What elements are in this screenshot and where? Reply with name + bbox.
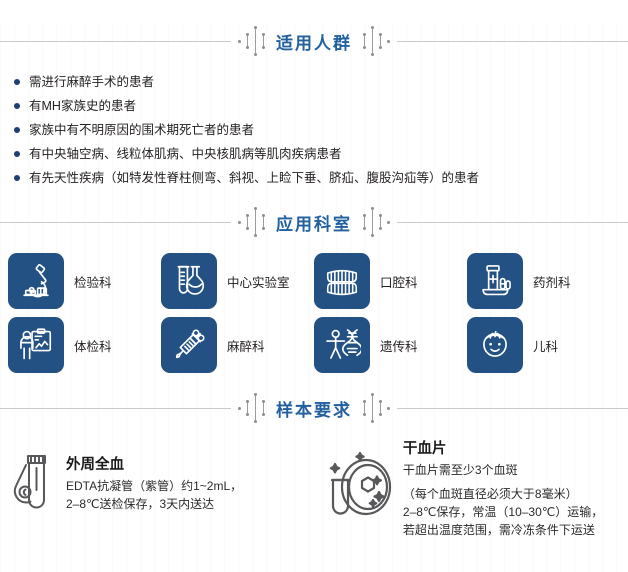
list-item: 需进行麻醉手术的患者 [14,72,618,93]
section-title-population: 适用人群 [272,29,356,54]
medicine-bottle-icon [476,262,514,300]
divider-rule-left [0,408,231,409]
ornament-bar-short [379,33,382,49]
department-label: 儿科 [533,336,558,355]
ornament-dot [238,221,241,224]
sample-text: 干血片 干血片需至少3个血斑 （每个血斑直径必须大于8毫米） 2–8℃保存，常温… [403,437,603,539]
ornament-bar-short [363,214,366,230]
department-label: 药剂科 [533,272,571,291]
ornament-dot [238,407,241,410]
department-item-anesthesia[interactable]: 麻醉科 [161,317,314,373]
ornament-bar-short [262,214,265,230]
department-item-lab[interactable]: 检验科 [8,253,161,309]
section-header-samples: 样本要求 [0,391,628,425]
list-item-label: 有MH家族史的患者 [29,96,136,117]
sample-icon-wrap [12,453,56,539]
ornament-bar-short [363,400,366,416]
ornament-bar-short [262,33,265,49]
sample-line: 2–8℃保存，常温（10–30℃）运输， [403,503,603,521]
sample-item-dried-blood-spot: 干血片 干血片需至少3个血斑 （每个血斑直径必须大于8毫米） 2–8℃保存，常温… [327,435,622,539]
list-item: 家族中有不明原因的围术期死亡者的患者 [14,120,618,141]
sample-icon-wrap [327,437,393,539]
department-label: 中心实验室 [227,272,290,291]
list-item-label: 需进行麻醉手术的患者 [29,72,154,93]
department-label: 遗传科 [380,336,418,355]
ornament-bar-short [246,33,249,49]
ornament-dot [387,40,390,43]
ornament-right [363,391,390,425]
department-tile [161,253,217,309]
ornament-bar-tall [254,393,257,423]
section-header-population: 适用人群 [0,24,628,58]
sample-line: 若超出温度范围，需冷冻条件下运送 [403,521,603,539]
population-list: 需进行麻醉手术的患者 有MH家族史的患者 家族中有不明原因的围术期死亡者的患者 … [0,72,628,189]
department-label: 体检科 [74,336,112,355]
department-tile [161,317,217,373]
department-grid: 检验科 中心实验室 [0,239,628,373]
bullet-dot-icon [14,175,20,181]
list-item-label: 有中央轴空病、线粒体肌病、中央核肌病等肌肉疾病患者 [29,144,342,165]
ornament-left [238,24,265,58]
poster-page: 适用人群 需进行麻醉手术的患者 有MH家族史的患者 家族中有不明原因的围术期死亡… [0,24,628,572]
department-item-pediatrics[interactable]: 儿科 [467,317,620,373]
ornament-bar-short [363,33,366,49]
department-item-checkup[interactable]: 体检科 [8,317,161,373]
sample-text: 外周全血 EDTA抗凝管（紫管）约1~2mL， 2–8℃送检保存，3天内送达 [66,453,242,539]
divider-rule-left [0,41,231,42]
department-item-central-lab[interactable]: 中心实验室 [161,253,314,309]
bullet-dot-icon [14,103,20,109]
sample-requirements: 外周全血 EDTA抗凝管（紫管）约1~2mL， 2–8℃送检保存，3天内送达 [0,425,628,539]
ornament-bar-tall [371,26,374,56]
sample-item-whole-blood: 外周全血 EDTA抗凝管（紫管）约1~2mL， 2–8℃送检保存，3天内送达 [6,435,327,539]
test-tube-flask-icon [170,262,208,300]
list-item: 有中央轴空病、线粒体肌病、中央核肌病等肌肉疾病患者 [14,144,618,165]
ornament-dot [387,407,390,410]
ornament-bar-tall [371,393,374,423]
list-item-label: 家族中有不明原因的围术期死亡者的患者 [29,120,254,141]
department-tile [314,253,370,309]
ornament-bar-short [262,400,265,416]
bullet-dot-icon [14,151,20,157]
department-tile [467,317,523,373]
ornament-right [363,205,390,239]
microscope-icon [17,262,55,300]
checkup-clipboard-icon [17,326,55,364]
ornament-dot [387,221,390,224]
list-item: 有先天性疾病（如特发性脊柱侧弯、斜视、上睑下垂、脐疝、腹股沟疝等）的患者 [14,168,618,189]
sample-line: （每个血斑直径必须大于8毫米） [403,485,603,503]
section-title-departments: 应用科室 [272,210,356,235]
divider-rule-right [397,408,628,409]
department-item-pharmacy[interactable]: 药剂科 [467,253,620,309]
ornament-bar-short [379,214,382,230]
section-title-samples: 样本要求 [272,396,356,421]
section-header-departments: 应用科室 [0,205,628,239]
ornament-bar-tall [254,207,257,237]
dried-blood-spot-icon [327,451,393,521]
department-tile [8,317,64,373]
ornament-bar-tall [254,26,257,56]
department-tile [314,317,370,373]
sample-line: 干血片需至少3个血斑 [403,461,603,479]
department-item-genetics[interactable]: 遗传科 [314,317,467,373]
sample-line: 2–8℃送检保存，3天内送达 [66,495,242,513]
ornament-left [238,205,265,239]
ornament-bar-short [246,214,249,230]
department-label: 口腔科 [380,272,418,291]
department-tile [467,253,523,309]
sample-line: EDTA抗凝管（紫管）约1~2mL， [66,477,242,495]
bullet-dot-icon [14,127,20,133]
ornament-bar-short [379,400,382,416]
ornament-left [238,391,265,425]
sample-title: 外周全血 [66,453,242,474]
dna-person-icon [323,326,361,364]
department-label: 麻醉科 [227,336,265,355]
ornament-bar-short [246,400,249,416]
ornament-dot [238,40,241,43]
child-face-icon [476,326,514,364]
divider-rule-right [397,222,628,223]
department-tile [8,253,64,309]
divider-rule-right [397,41,628,42]
ornament-right [363,24,390,58]
list-item-label: 有先天性疾病（如特发性脊柱侧弯、斜视、上睑下垂、脐疝、腹股沟疝等）的患者 [29,168,479,189]
ornament-bar-tall [371,207,374,237]
sample-title: 干血片 [403,437,603,458]
department-label: 检验科 [74,272,112,291]
bullet-dot-icon [14,79,20,85]
blood-tube-drop-icon [12,453,56,511]
department-item-dental[interactable]: 口腔科 [314,253,467,309]
syringe-icon [170,326,208,364]
divider-rule-left [0,222,231,223]
list-item: 有MH家族史的患者 [14,96,618,117]
teeth-icon [323,262,361,300]
